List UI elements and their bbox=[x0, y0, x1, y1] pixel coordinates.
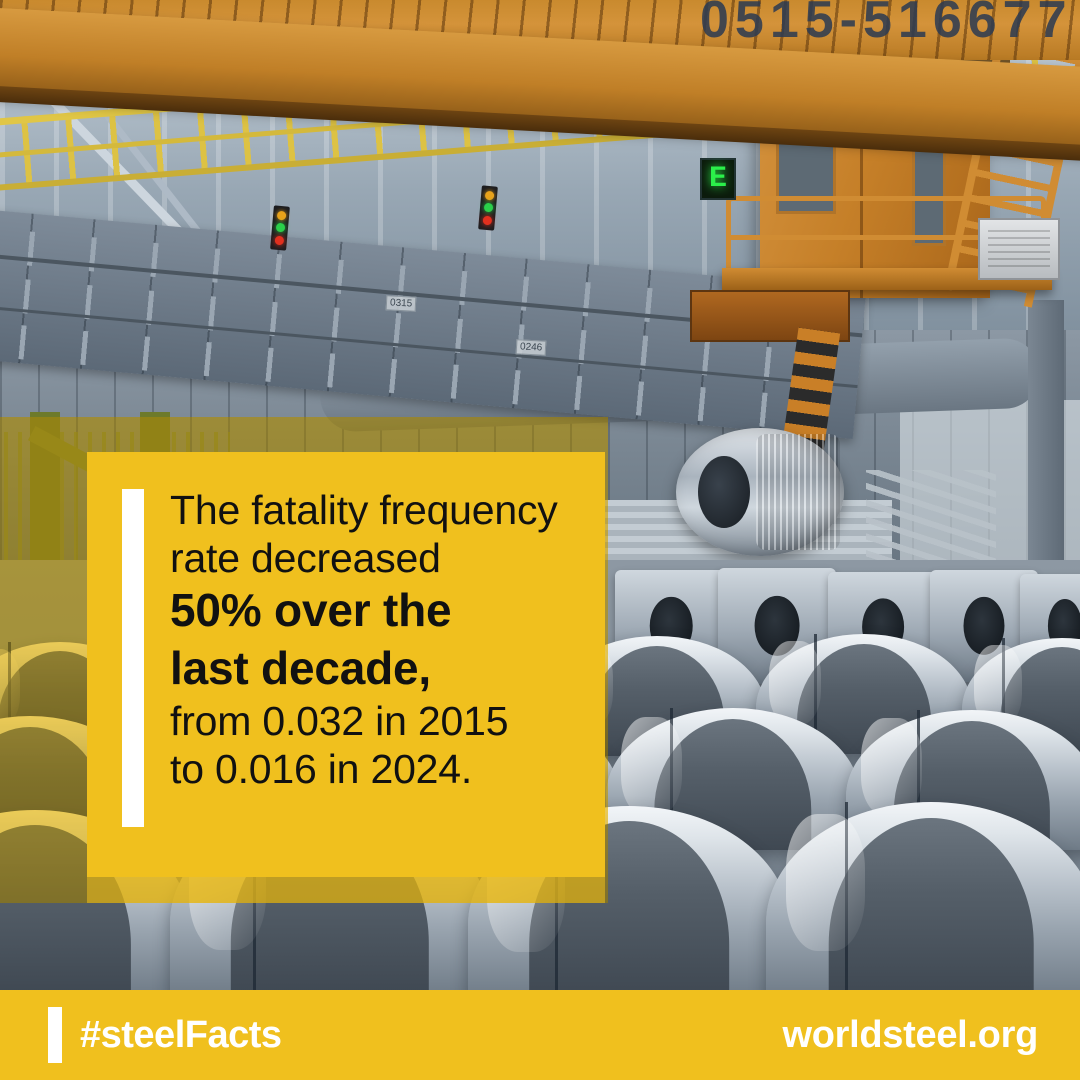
steel-coil bbox=[766, 802, 1080, 990]
callout-line-1: The fatality frequency bbox=[170, 487, 590, 535]
brand-accent-tick bbox=[48, 1007, 62, 1063]
beam-tag-2: 0246 bbox=[516, 339, 547, 356]
brand-bar-left: #steelFacts bbox=[48, 1007, 282, 1063]
signal-amber-lamp bbox=[276, 211, 286, 221]
website-label[interactable]: worldsteel.org bbox=[782, 1014, 1038, 1057]
callout-line-3: 50% over the bbox=[170, 582, 590, 640]
signal-red-lamp bbox=[482, 216, 492, 226]
callout-text: The fatality frequency rate decreased 50… bbox=[170, 487, 590, 793]
signal-green-lamp bbox=[483, 203, 493, 213]
callout-line-2: rate decreased bbox=[170, 535, 590, 583]
coil-highlight bbox=[621, 717, 682, 816]
hashtag-label: #steelFacts bbox=[80, 1014, 282, 1057]
beam-tag-1: 0315 bbox=[386, 295, 417, 312]
suspended-steel-coil bbox=[676, 428, 844, 556]
signal-green-lamp bbox=[275, 223, 285, 233]
coil-highlight bbox=[786, 814, 865, 951]
callout-box-foot bbox=[87, 877, 605, 903]
callout-line-4: last decade, bbox=[170, 640, 590, 698]
green-e-indicator-sign: E bbox=[700, 158, 736, 200]
callout-line-6: to 0.016 in 2024. bbox=[170, 746, 590, 794]
coil-eye bbox=[698, 456, 750, 528]
signal-amber-lamp bbox=[484, 191, 494, 201]
indicator-sign-label: E bbox=[709, 164, 727, 194]
signal-red-lamp bbox=[274, 236, 284, 246]
crane-serial-number: 0515-516677 bbox=[700, 0, 1073, 50]
callout-accent-bar bbox=[122, 489, 144, 827]
callout-line-5: from 0.032 in 2015 bbox=[170, 698, 590, 746]
steelfacts-infographic: E 0315 0246 bbox=[0, 0, 1080, 1080]
coil-winding-rings bbox=[756, 434, 840, 550]
air-conditioner-unit bbox=[978, 218, 1060, 280]
brand-bar: #steelFacts worldsteel.org bbox=[0, 990, 1080, 1080]
